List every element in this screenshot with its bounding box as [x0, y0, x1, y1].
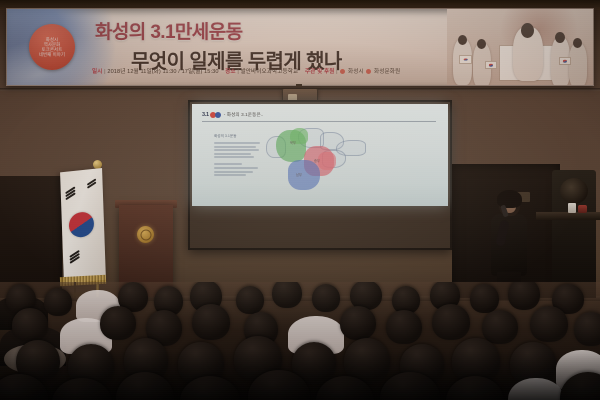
- photo-scene: 화성시 역사문화 토크콘서트 네번째 이야기 화성의 3.1만세운동 무엇이 일…: [0, 0, 600, 400]
- scene-vignette: [0, 0, 600, 400]
